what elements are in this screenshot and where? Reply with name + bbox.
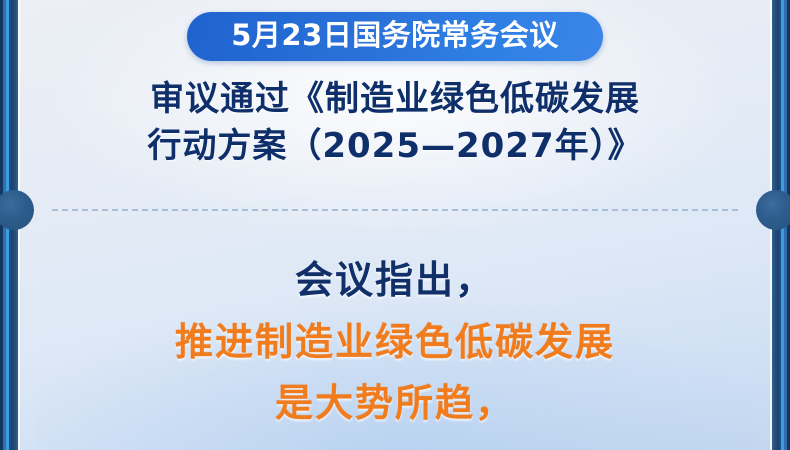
title-line-2: 行动方案（2025—2027年）》 (40, 123, 750, 170)
dashed-divider (52, 209, 738, 211)
ticket-notch-left-icon (0, 190, 34, 230)
document-title: 审议通过《制造业绿色低碳发展 行动方案（2025—2027年）》 (40, 76, 750, 170)
ticket-notch-right-icon (756, 190, 790, 230)
header-badge-container: 5月23日国务院常务会议 (0, 12, 790, 61)
poster-card: 5月23日国务院常务会议 审议通过《制造业绿色低碳发展 行动方案（2025—20… (0, 0, 790, 450)
meeting-date-badge: 5月23日国务院常务会议 (187, 12, 603, 61)
statement-line-1: 会议指出， (24, 250, 766, 312)
title-line-1: 审议通过《制造业绿色低碳发展 (40, 76, 750, 123)
statement-block: 会议指出， 推进制造业绿色低碳发展 是大势所趋， (24, 250, 766, 435)
statement-line-2: 推进制造业绿色低碳发展 (24, 312, 766, 374)
statement-line-3: 是大势所趋， (24, 373, 766, 435)
